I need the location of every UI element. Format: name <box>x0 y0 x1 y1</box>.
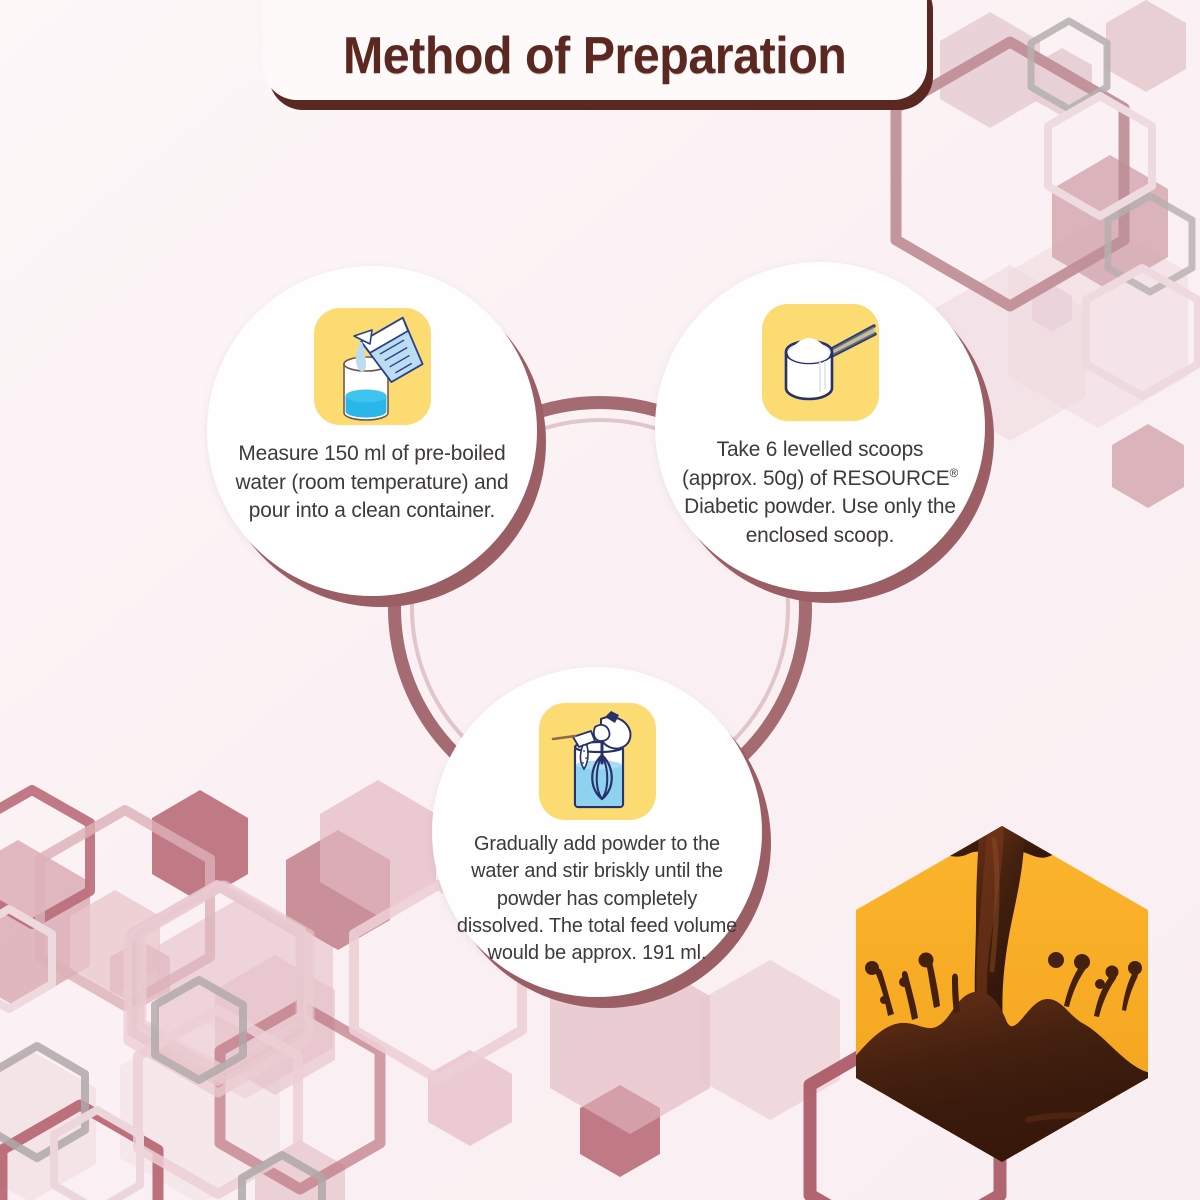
step-3-icon-box <box>539 703 656 820</box>
step-1-disc: Measure 150 ml of pre-boiled water (room… <box>207 266 537 596</box>
step-3-caption: Gradually add powder to the water and st… <box>452 830 743 966</box>
step-2-disc: Take 6 levelled scoops (approx. 50g) of … <box>655 262 985 592</box>
step-circle-1[interactable]: Measure 150 ml of pre-boiled water (room… <box>207 266 537 596</box>
measuring-scoop-icon <box>762 304 879 421</box>
step-2-text-b: Diabetic powder. Use only the enclosed s… <box>684 494 956 547</box>
chocolate-splash-hexagon <box>828 820 1176 1168</box>
step-circle-3[interactable]: Gradually add powder to the water and st… <box>432 667 762 997</box>
title-banner-card: Method of Preparation <box>263 0 927 100</box>
whisk-stirring-glass-icon <box>539 703 656 820</box>
step-2-icon-box <box>762 304 879 421</box>
step-1-caption: Measure 150 ml of pre-boiled water (room… <box>233 439 510 525</box>
registered-mark-icon: ® <box>950 465 958 479</box>
infographic-canvas: Method of Preparation <box>0 0 1200 1200</box>
step-2-text-a: Take 6 levelled scoops (approx. 50g) of … <box>682 437 950 490</box>
step-circle-2[interactable]: Take 6 levelled scoops (approx. 50g) of … <box>655 262 985 592</box>
step-3-disc: Gradually add powder to the water and st… <box>432 667 762 997</box>
title-banner: Method of Preparation <box>263 0 927 100</box>
step-2-caption: Take 6 levelled scoops (approx. 50g) of … <box>681 435 958 549</box>
step-1-icon-box <box>314 308 431 425</box>
page-title: Method of Preparation <box>343 26 846 86</box>
pouring-jug-into-glass-icon <box>314 308 431 425</box>
